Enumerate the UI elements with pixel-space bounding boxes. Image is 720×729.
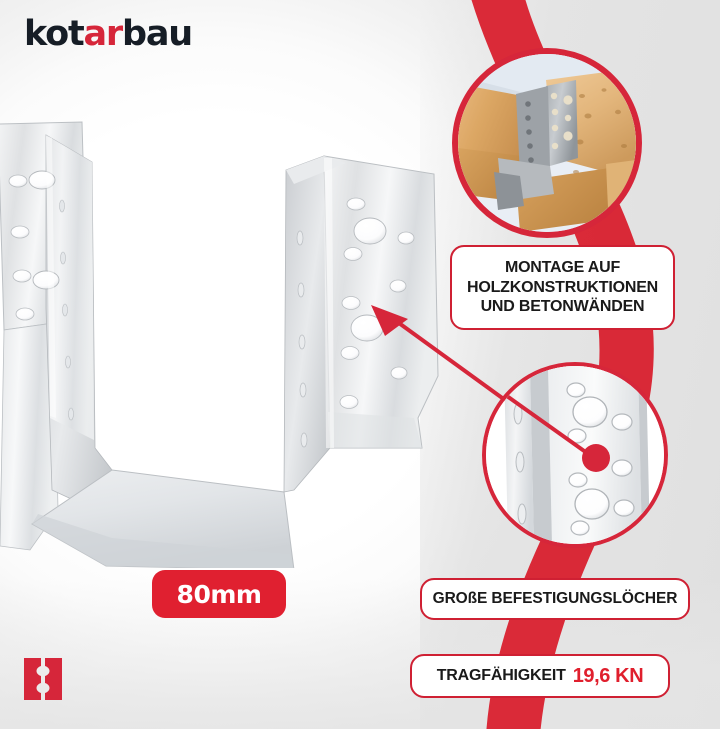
callout-montage-line3: UND BETONWÄNDEN [467, 297, 658, 317]
kotarbau-mark-icon [22, 656, 64, 702]
brand-logo: kotarbau [24, 17, 192, 52]
logo-accent: ar [84, 14, 122, 54]
perforation-detail-illustration [486, 366, 664, 544]
logo-part1: kot [24, 14, 84, 54]
callout-large-holes: GROßE BEFESTIGUNGSLÖCHER [420, 578, 690, 620]
installation-photo-illustration [458, 54, 636, 232]
size-badge-text: 80mm [177, 580, 262, 609]
callout-load-capacity: TRAGFÄHIGKEIT 19,6 KN [410, 654, 670, 698]
photo-hanger-seat-side [494, 172, 524, 210]
mark-left-half [24, 658, 41, 700]
callout-load-label: TRAGFÄHIGKEIT [437, 667, 566, 685]
installation-photo-circle [452, 48, 642, 238]
perforation-detail-circle [482, 362, 668, 548]
callout-large-holes-text: GROßE BEFESTIGUNGSLÖCHER [433, 590, 678, 608]
callout-load-value: 19,6 KN [573, 665, 644, 688]
callout-montage: MONTAGE AUF HOLZKONSTRUKTIONEN UND BETON… [450, 245, 675, 330]
zoom-target-dot [582, 444, 610, 472]
product-infographic: kotarbau [0, 0, 720, 729]
size-badge: 80mm [152, 570, 286, 618]
callout-montage-line2: HOLZKONSTRUKTIONEN [467, 278, 658, 298]
callout-montage-line1: MONTAGE AUF [467, 258, 658, 278]
photo-hanger-plate [546, 80, 578, 166]
mark-right-half [45, 658, 62, 700]
logo-part2: bau [122, 14, 192, 54]
